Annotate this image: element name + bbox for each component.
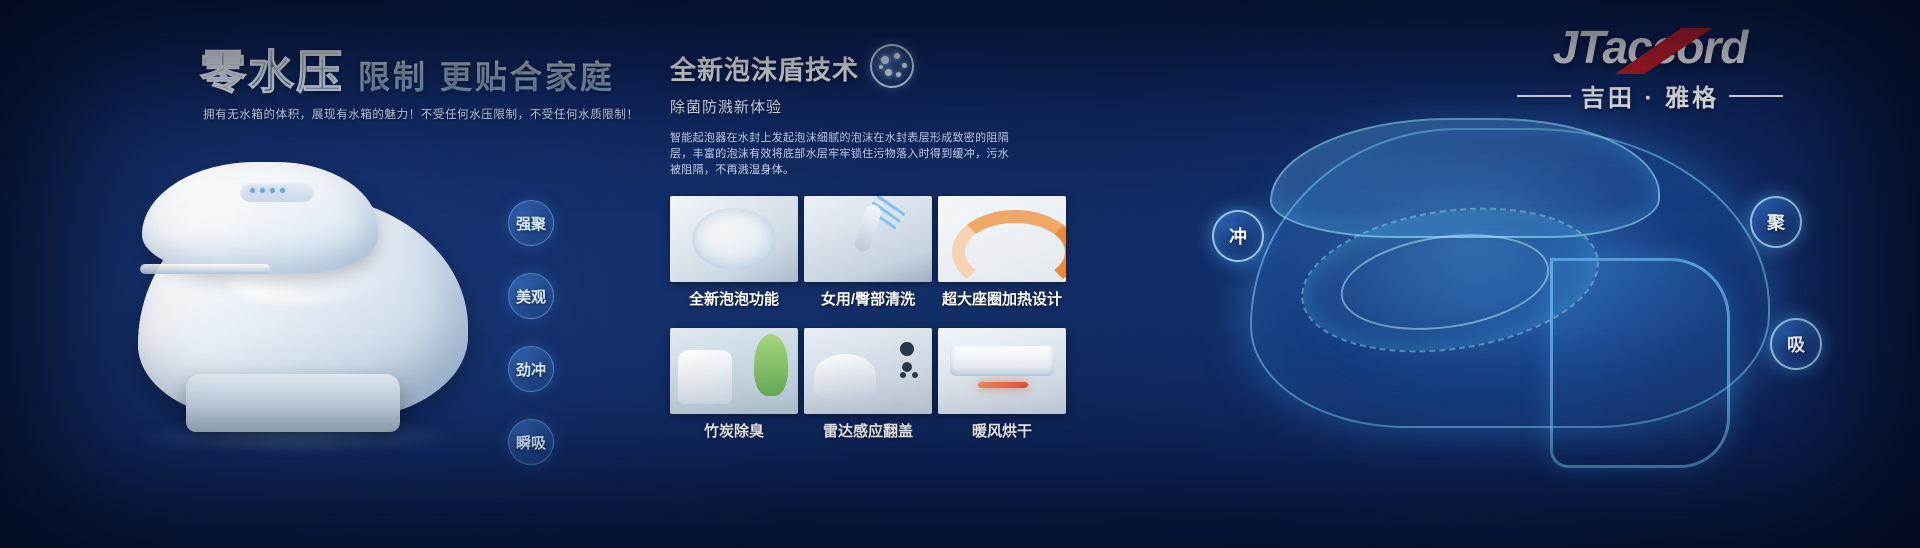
badge-xi[interactable]: 吸 <box>1770 318 1822 370</box>
right-brand-section: JTaccord 吉田 · 雅格 冲 聚 吸 <box>1120 0 1920 548</box>
headline-main: 零水压 <box>200 36 344 102</box>
toilet-seat-seam <box>140 264 270 274</box>
bubble-dot <box>885 69 892 76</box>
feature-caption: 全新泡泡功能 <box>670 288 798 309</box>
indicator-dot <box>280 188 285 193</box>
bamboo-charcoal-photo <box>670 328 798 414</box>
feature-card[interactable]: 女用/臀部清洗 <box>804 196 932 282</box>
middle-subtitle: 除菌防溅新体验 <box>670 96 782 117</box>
feature-caption: 竹炭除臭 <box>670 420 798 441</box>
feature-caption: 雷达感应翻盖 <box>804 420 932 441</box>
indicator-dot <box>270 188 275 193</box>
wash-nozzle-photo <box>804 196 932 282</box>
badge-chong[interactable]: 冲 <box>1212 210 1264 262</box>
middle-title: 全新泡沫盾技术 <box>670 50 859 87</box>
toilet-bowl-photo <box>670 196 798 282</box>
toilet-lid <box>142 162 378 274</box>
feature-card[interactable]: 竹炭除臭 <box>670 328 798 414</box>
feature-caption: 女用/臀部清洗 <box>804 288 932 309</box>
middle-paragraph: 智能起泡器在水封上发起泡沫细腻的泡沫在水封表层形成致密的阻隔层，丰富的泡沫有效将… <box>670 130 1010 178</box>
feature-pill-qiangju[interactable]: 强聚 <box>508 200 554 246</box>
feature-caption: 超大座圈加热设计 <box>938 288 1066 309</box>
middle-foam-tech-section: 全新泡沫盾技术 除菌防溅新体验 智能起泡器在水封上发起泡沫细腻的泡沫在水封表层形… <box>660 0 1090 548</box>
xray-toilet-illustration: 冲 聚 吸 <box>1190 118 1850 518</box>
logo-rule-left <box>1517 95 1571 97</box>
bubble-dot <box>894 53 900 59</box>
left-subtitle: 拥有无水箱的体积，展现有水箱的魅力！不受任何水压限制，不受任何水质限制！ <box>203 106 639 122</box>
feature-pill-jinchong[interactable]: 劲冲 <box>508 346 554 392</box>
feature-caption: 暖风烘干 <box>938 420 1066 441</box>
logo-chinese-row: 吉田 · 雅格 <box>1490 78 1810 113</box>
indicator-dot <box>260 188 265 193</box>
warm-air-dryer-photo <box>938 328 1066 414</box>
headline-sub: 限制 更贴合家庭 <box>358 52 615 98</box>
logo-rule-right <box>1729 95 1783 97</box>
bubble-dot <box>881 56 889 64</box>
promo-banner: 零水压 限制 更贴合家庭 拥有无水箱的体积，展现有水箱的魅力！不受任何水压限制，… <box>0 0 1920 548</box>
control-panel-indicator-dots <box>250 188 285 193</box>
logo-chinese-name: 吉田 · 雅格 <box>1581 78 1719 113</box>
bubble-dot <box>896 72 901 77</box>
product-toilet-illustration <box>90 138 490 458</box>
feature-thumbnail-grid: 全新泡泡功能 女用/臀部清洗 超大座圈加热设计 竹炭除臭 雷达感应翻盖 暖风烘干 <box>670 196 1066 414</box>
feature-card[interactable]: 全新泡泡功能 <box>670 196 798 282</box>
indicator-dot <box>250 188 255 193</box>
bubbles-icon <box>870 44 914 88</box>
feature-pill-meiguan[interactable]: 美观 <box>508 273 554 319</box>
bubble-dot <box>902 63 907 68</box>
brand-logo[interactable]: JTaccord 吉田 · 雅格 <box>1490 24 1810 113</box>
left-headline: 零水压 限制 更贴合家庭 <box>200 36 615 102</box>
bubble-dot <box>879 65 883 69</box>
feature-card[interactable]: 暖风烘干 <box>938 328 1066 414</box>
feature-pill-list: 强聚 美观 劲冲 瞬吸 <box>508 200 554 465</box>
left-product-section: 零水压 限制 更贴合家庭 拥有无水箱的体积，展现有水箱的魅力！不受任何水压限制，… <box>0 0 640 548</box>
feature-card[interactable]: 雷达感应翻盖 <box>804 328 932 414</box>
heated-seat-ring-photo <box>938 196 1066 282</box>
radar-sensor-lid-photo <box>804 328 932 414</box>
toilet-base <box>186 374 400 432</box>
feature-pill-shunxi[interactable]: 瞬吸 <box>508 419 554 465</box>
badge-ju[interactable]: 聚 <box>1750 196 1802 248</box>
feature-card[interactable]: 超大座圈加热设计 <box>938 196 1066 282</box>
